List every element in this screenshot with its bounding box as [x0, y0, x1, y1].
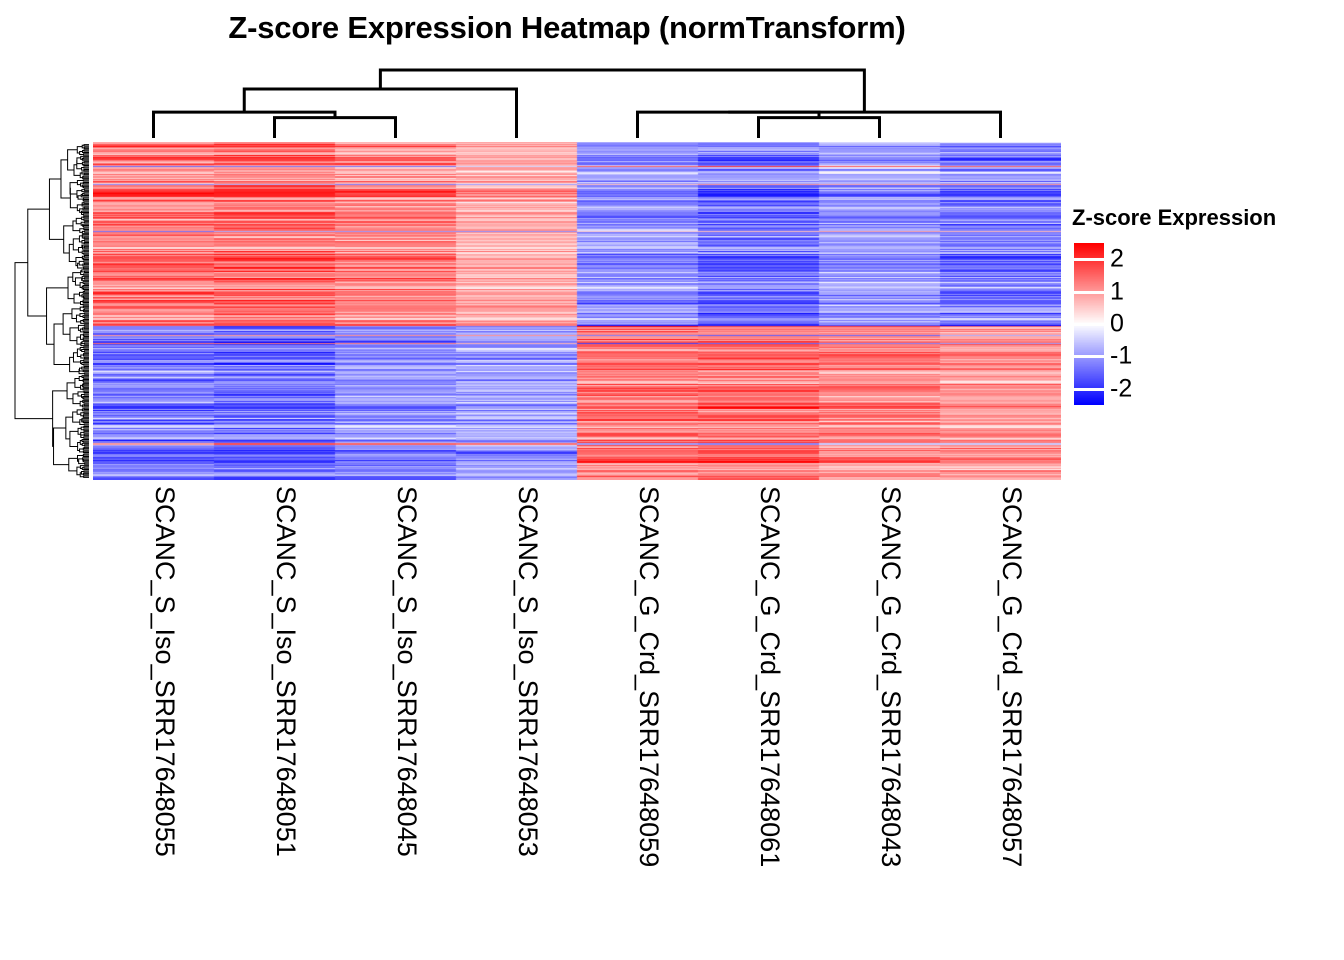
colorbar-tick-mark-0 — [1074, 258, 1104, 261]
colorbar-tick-mark-4 — [1074, 388, 1104, 391]
colorbar-tick-mark-1 — [1074, 291, 1104, 294]
colorbar-tick-2: 0 — [1110, 312, 1124, 337]
colorbar-tick-mark-2 — [1074, 323, 1104, 326]
colorbar-tick-mark-3 — [1074, 355, 1104, 358]
heatmap-figure: Z-score Expression Heatmap (normTransfor… — [0, 0, 1344, 960]
colorbar-tick-1: 1 — [1110, 279, 1124, 304]
legend-title: Z-score Expression — [1072, 205, 1340, 231]
colorbar-legend: Z-score Expression 210-1-2 — [1070, 205, 1340, 412]
page-title: Z-score Expression Heatmap (normTransfor… — [0, 10, 1134, 46]
colorbar-tick-0: 2 — [1110, 247, 1124, 272]
colorbar-tick-group: 210-1-2 — [1110, 237, 1180, 412]
row-dendrogram — [10, 142, 90, 480]
heatmap-canvas — [93, 142, 1061, 480]
column-label-group: SCANC_S_Iso_SRR17648055SCANC_S_Iso_SRR17… — [93, 486, 1061, 926]
column-dendrogram — [93, 60, 1061, 142]
heatmap-grid — [93, 142, 1061, 480]
colorbar-tick-3: -1 — [1110, 344, 1132, 369]
colorbar-tick-4: -2 — [1110, 376, 1132, 401]
